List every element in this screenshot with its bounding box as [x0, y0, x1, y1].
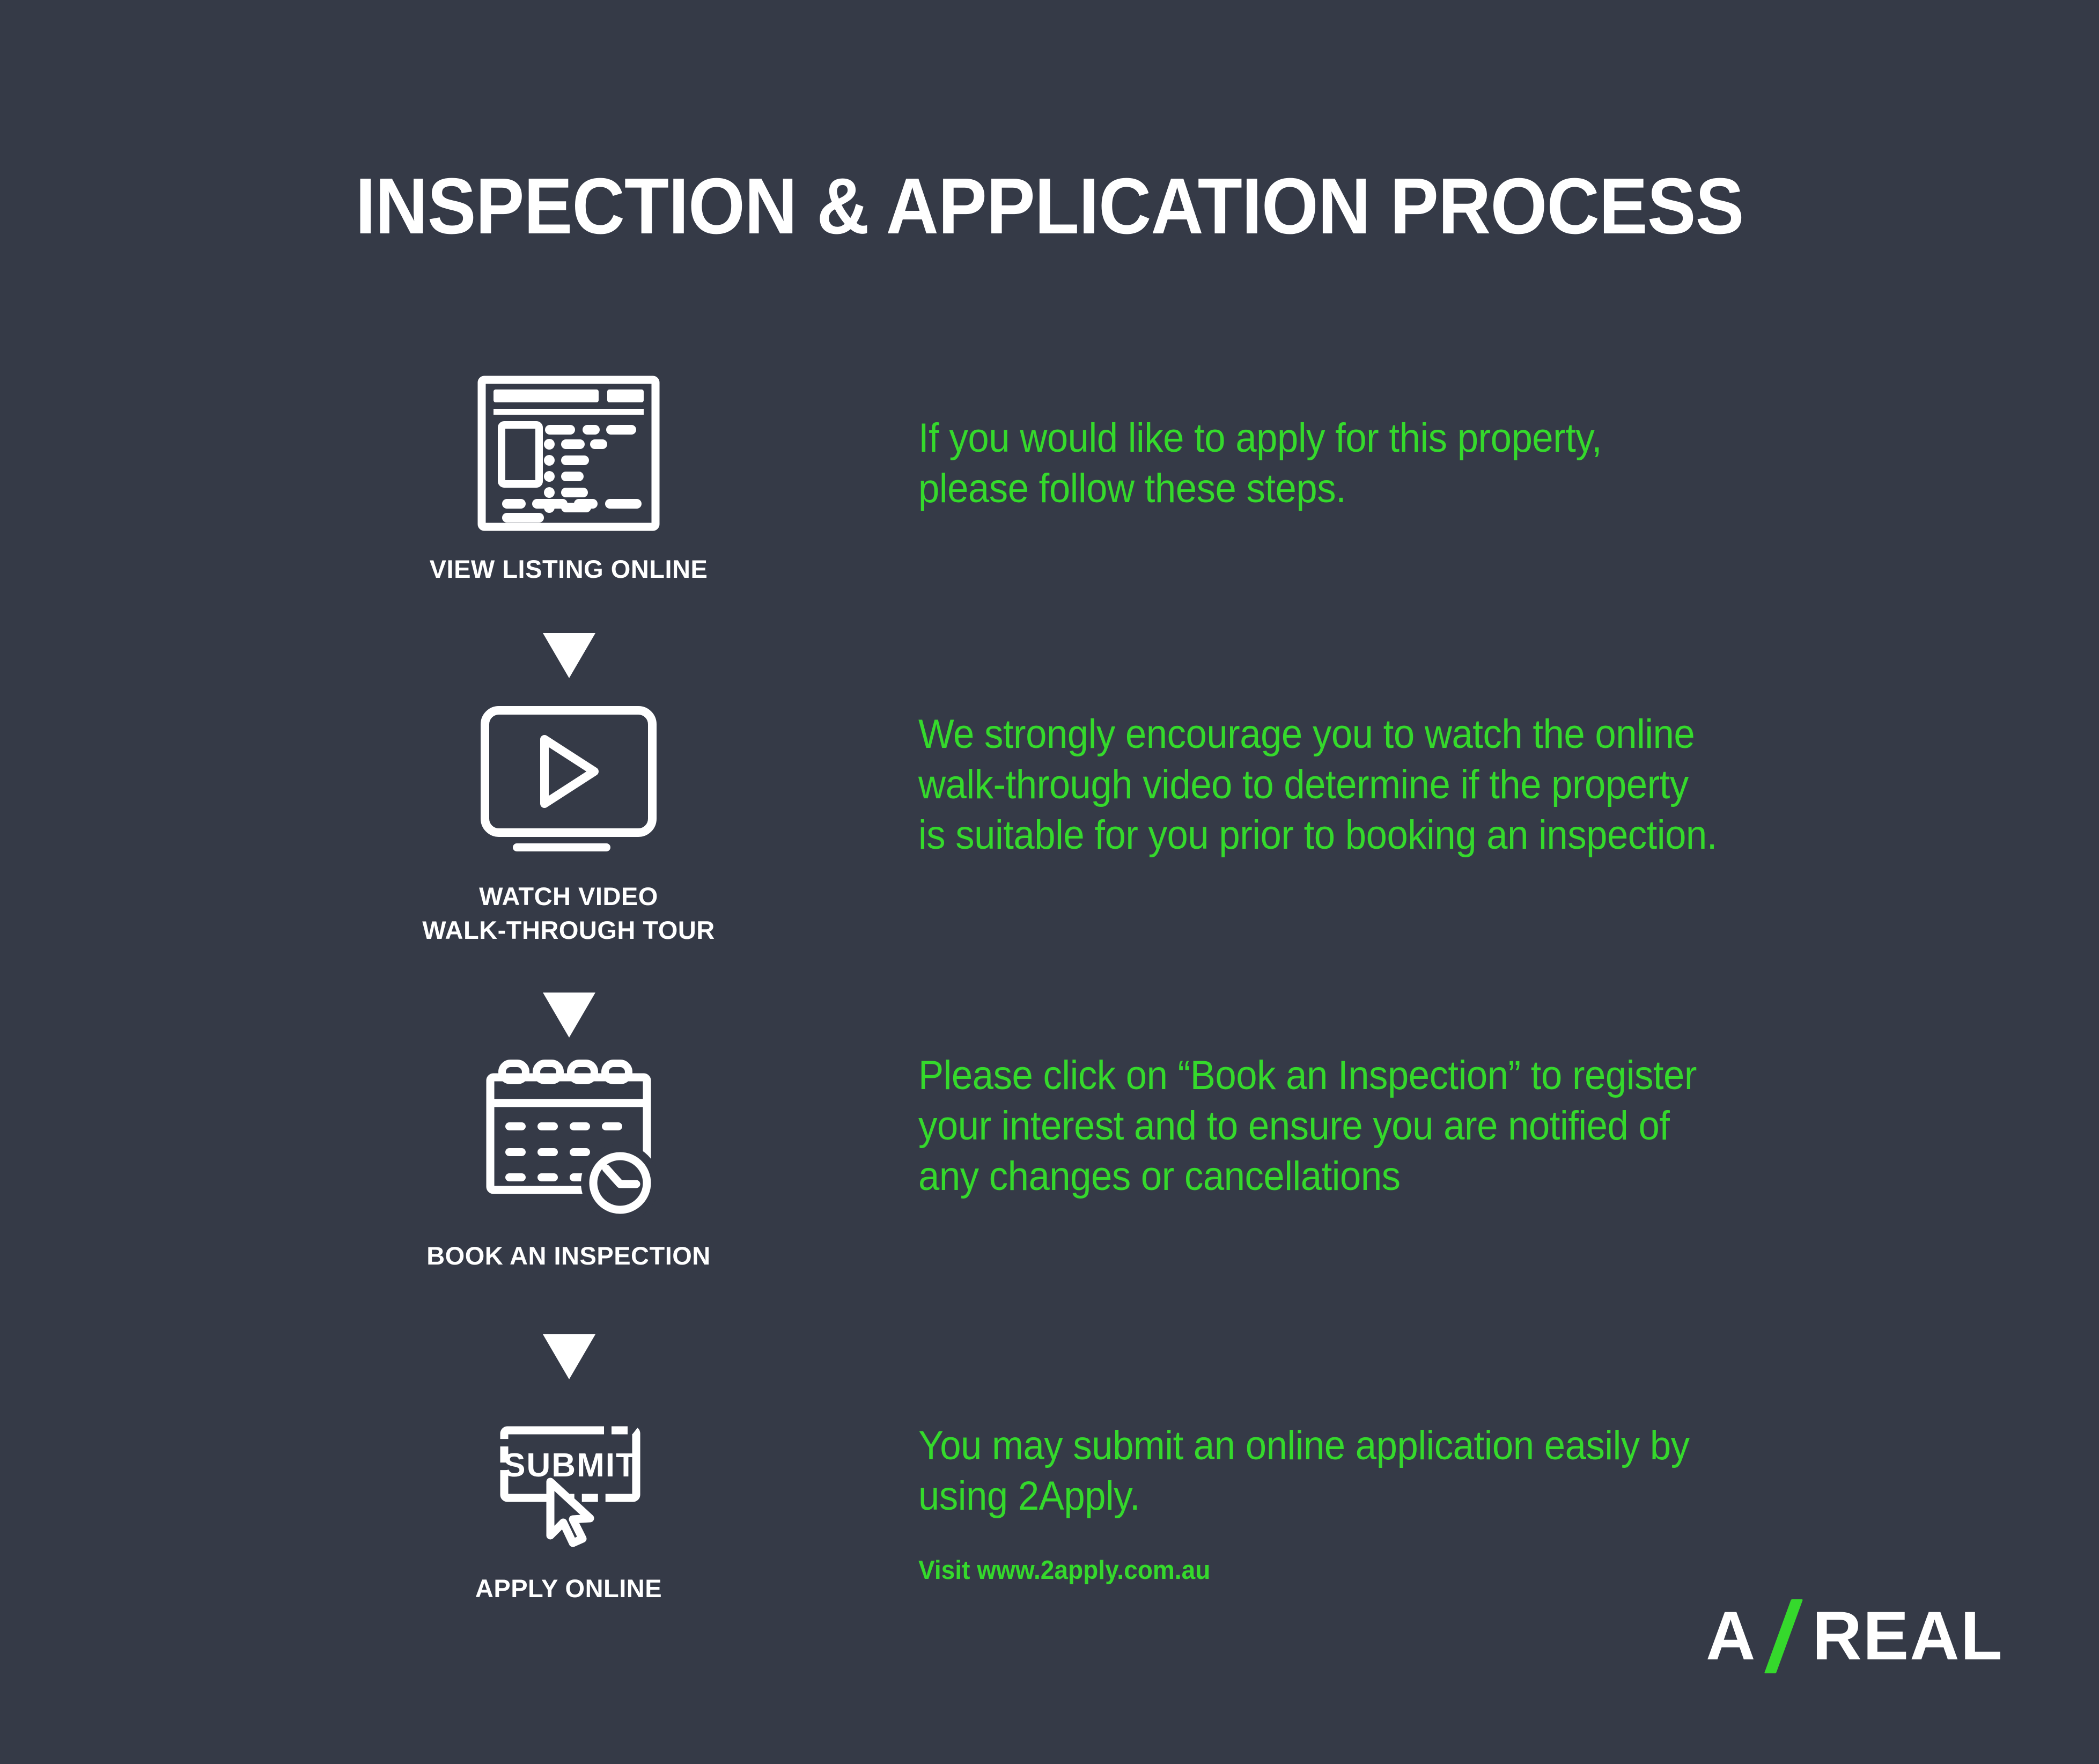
flow-arrow-down-icon	[543, 993, 595, 1038]
submit-icon-text: SUBMIT	[503, 1447, 637, 1484]
step-watch-video: WATCH VIDEO WALK-THROUGH TOUR	[408, 703, 730, 947]
logo-word-real: REAL	[1812, 1602, 2003, 1671]
submit-button-cursor-icon: SUBMIT	[477, 1416, 660, 1553]
step-label: WATCH VIDEO WALK-THROUGH TOUR	[422, 879, 715, 947]
note-apply-intro: If you would like to apply for this prop…	[918, 413, 1891, 514]
logo-letter-a: A	[1706, 1602, 1756, 1671]
flow-arrow-down-icon	[543, 1334, 595, 1379]
flow-arrow-down-icon	[543, 633, 595, 678]
step-apply-online: SUBMIT APPLY ONLINE	[408, 1416, 730, 1605]
step-label: APPLY ONLINE	[475, 1571, 662, 1605]
logo-slash-icon	[1758, 1601, 1810, 1671]
note-apply-online: You may submit an online application eas…	[918, 1421, 1891, 1522]
listing-window-icon	[477, 376, 660, 534]
calendar-clock-icon	[477, 1052, 660, 1221]
step-book-inspection: BOOK AN INSPECTION	[408, 1052, 730, 1273]
visit-url-link[interactable]: Visit www.2apply.com.au	[918, 1555, 1210, 1585]
note-watch-video: We strongly encourage you to watch the o…	[918, 709, 1916, 861]
step-label: BOOK AN INSPECTION	[426, 1239, 711, 1273]
video-monitor-play-icon	[477, 703, 660, 861]
brand-logo[interactable]: A REAL	[1706, 1601, 2004, 1671]
page-title: INSPECTION & APPLICATION PROCESS	[84, 161, 2015, 252]
infographic-canvas: INSPECTION & APPLICATION PROCESS	[0, 0, 2099, 1764]
step-label: VIEW LISTING ONLINE	[430, 552, 708, 586]
note-book-inspection: Please click on “Book an Inspection” to …	[918, 1050, 1891, 1202]
step-view-listing-online: VIEW LISTING ONLINE	[408, 376, 730, 586]
